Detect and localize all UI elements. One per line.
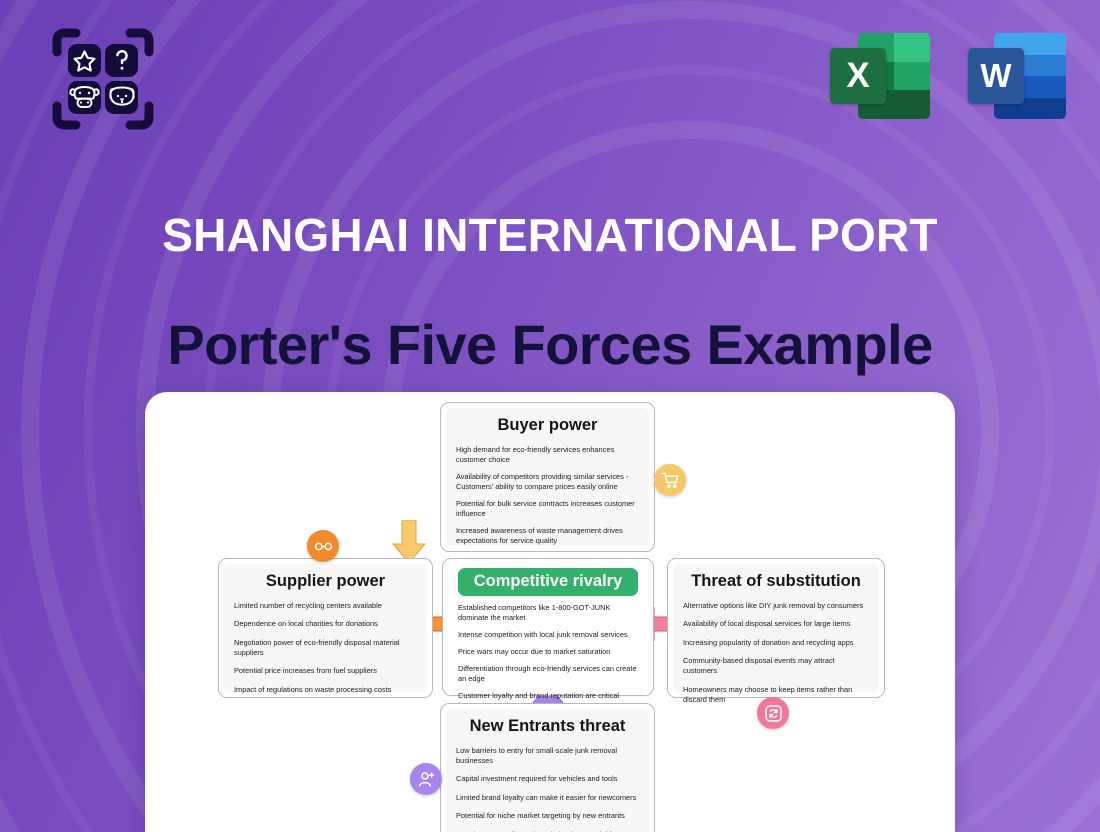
- word-badge-letter: W: [968, 48, 1024, 104]
- force-title-entrants: New Entrants threat: [456, 717, 639, 737]
- force-point: Community-based disposal events may attr…: [683, 656, 869, 676]
- excel-icon[interactable]: X: [830, 27, 930, 125]
- force-points-rivalry: Established competitors like 1-800-GOT-J…: [458, 603, 638, 711]
- force-point: Limited brand loyalty can make it easier…: [456, 793, 639, 803]
- refresh-icon[interactable]: [757, 697, 789, 729]
- force-point: Established competitors like 1-800-GOT-J…: [458, 603, 638, 623]
- force-point: Potential price increases from fuel supp…: [234, 666, 417, 676]
- force-title-supplier: Supplier power: [234, 572, 417, 592]
- force-point: Increasing popularity of donation and re…: [683, 638, 869, 648]
- force-point: Capital investment required for vehicles…: [456, 774, 639, 784]
- force-box-threat-of-substitution[interactable]: Threat of substitution Alternative optio…: [667, 558, 885, 698]
- force-point: Negotiation power of eco-friendly dispos…: [234, 638, 417, 658]
- force-title-buyer: Buyer power: [456, 416, 639, 436]
- force-point: Availability of competitors providing si…: [456, 472, 639, 492]
- force-box-buyer-power[interactable]: Buyer power High demand for eco-friendly…: [440, 402, 655, 552]
- force-point: Impact of regulations on waste processin…: [234, 685, 417, 695]
- force-point: High demand for eco-friendly services en…: [456, 445, 639, 465]
- diagram-card: Buyer power High demand for eco-friendly…: [145, 392, 955, 832]
- add-user-icon[interactable]: [410, 763, 442, 795]
- force-points-entrants: Low barriers to entry for small-scale ju…: [456, 746, 639, 832]
- wrench-icon[interactable]: [307, 530, 339, 562]
- force-points-substitution: Alternative options like DIY junk remova…: [683, 601, 869, 705]
- slide-root: X W SHANGHAI INTERNATIONAL PORT Porter's…: [0, 0, 1100, 832]
- qr-frame-logo: [50, 26, 156, 132]
- force-point: Low barriers to entry for small-scale ju…: [456, 746, 639, 766]
- force-box-supplier-power[interactable]: Supplier power Limited number of recycli…: [218, 558, 433, 698]
- force-point: Alternative options like DIY junk remova…: [683, 601, 869, 611]
- force-point: Increased awareness of waste management …: [456, 526, 639, 546]
- force-point: Differentiation through eco-friendly ser…: [458, 664, 638, 684]
- force-box-competitive-rivalry[interactable]: Competitive rivalry Established competit…: [442, 558, 654, 696]
- force-point: Intense competition with local junk remo…: [458, 630, 638, 640]
- force-title-rivalry: Competitive rivalry: [458, 568, 638, 596]
- page-title: Porter's Five Forces Example: [0, 312, 1100, 377]
- force-points-supplier: Limited number of recycling centers avai…: [234, 601, 417, 695]
- excel-badge-letter: X: [830, 48, 886, 104]
- star-icon-tile: [68, 44, 101, 77]
- force-point: Dependence on local charities for donati…: [234, 619, 417, 629]
- force-point: Price wars may occur due to market satur…: [458, 647, 638, 657]
- force-title-substitution: Threat of substitution: [683, 572, 869, 592]
- force-box-new-entrants-threat[interactable]: New Entrants threat Low barriers to entr…: [440, 703, 655, 832]
- word-icon[interactable]: W: [968, 27, 1068, 125]
- force-point: Availability of local disposal services …: [683, 619, 869, 629]
- force-points-buyer: High demand for eco-friendly services en…: [456, 445, 639, 546]
- file-type-icons: X W: [830, 27, 1068, 125]
- force-point: Limited number of recycling centers avai…: [234, 601, 417, 611]
- cow-icon-tile: [68, 81, 101, 114]
- force-point: Potential for niche market targeting by …: [456, 811, 639, 821]
- shopping-cart-icon[interactable]: [654, 464, 686, 496]
- force-point: Potential for bulk service contracts inc…: [456, 499, 639, 519]
- five-forces-diagram: Buyer power High demand for eco-friendly…: [145, 392, 955, 832]
- page-kicker: SHANGHAI INTERNATIONAL PORT: [0, 208, 1100, 262]
